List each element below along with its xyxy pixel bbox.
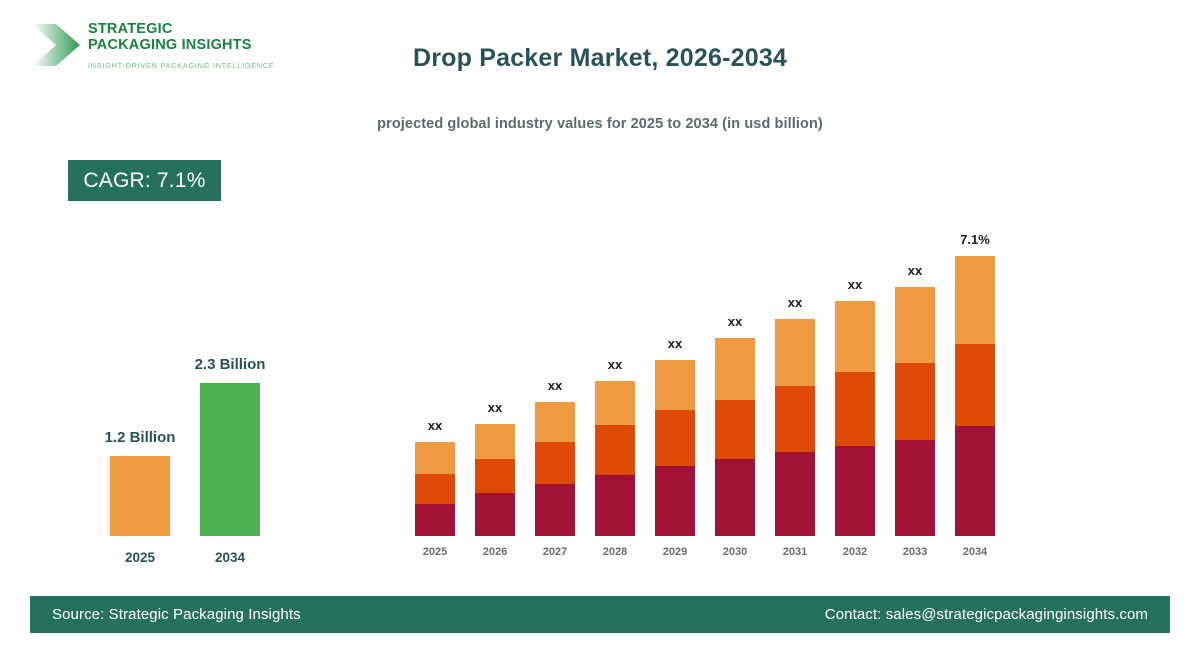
- infographic-page: STRATEGIC PACKAGING INSIGHTS INSIGHT-DRI…: [0, 0, 1200, 650]
- bar-segment-segment-middle-2032: [835, 372, 875, 446]
- bar-group-2028: xx2028: [595, 200, 635, 560]
- stacked-bar-2031: [775, 319, 815, 536]
- bar-segment-segment-bottom-2027: [535, 484, 575, 536]
- bar-segment-segment-middle-2033: [895, 363, 935, 440]
- bar-segment-segment-top-2033: [895, 287, 935, 363]
- endpoint-comparison-chart: 1.2 Billion20252.3 Billion2034: [55, 300, 285, 570]
- brand-logo-line1: STRATEGIC: [88, 22, 275, 38]
- bar-segment-segment-top-2031: [775, 319, 815, 386]
- bar-year-label-2034: 2034: [933, 546, 1017, 558]
- comparison-value-label-2025: 1.2 Billion: [75, 429, 205, 446]
- bar-segment-segment-bottom-2025: [415, 504, 455, 536]
- comparison-year-label-2034: 2034: [165, 550, 295, 565]
- bar-segment-segment-middle-2031: [775, 386, 815, 452]
- bar-segment-segment-middle-2025: [415, 474, 455, 504]
- bar-group-2027: xx2027: [535, 200, 575, 560]
- bar-segment-segment-top-2030: [715, 338, 755, 400]
- bar-segment-segment-bottom-2026: [475, 493, 515, 536]
- page-title: Drop Packer Market, 2026-2034: [0, 44, 1200, 73]
- footer-source: Source: Strategic Packaging Insights: [52, 606, 301, 623]
- bar-segment-segment-bottom-2033: [895, 440, 935, 536]
- bar-segment-segment-bottom-2032: [835, 446, 875, 536]
- cagr-badge-label: CAGR: 7.1%: [83, 169, 205, 193]
- bar-group-2030: xx2030: [715, 200, 755, 560]
- bar-segment-segment-bottom-2029: [655, 466, 695, 536]
- bar-segment-segment-top-2025: [415, 442, 455, 474]
- bar-segment-segment-top-2034: [955, 256, 995, 344]
- bar-segment-segment-middle-2034: [955, 344, 995, 426]
- bar-value-label-2026: xx: [453, 400, 537, 415]
- stacked-forecast-chart: xx2025xx2026xx2027xx2028xx2029xx2030xx20…: [405, 200, 1015, 560]
- bar-segment-segment-middle-2027: [535, 442, 575, 484]
- stacked-bar-2030: [715, 338, 755, 536]
- bar-segment-segment-top-2032: [835, 301, 875, 372]
- comparison-value-label-2034: 2.3 Billion: [165, 356, 295, 373]
- footer-contact: Contact: sales@strategicpackaginginsight…: [825, 606, 1148, 623]
- bar-value-label-2031: xx: [753, 295, 837, 310]
- bar-value-label-2025: xx: [393, 418, 477, 433]
- bar-segment-segment-bottom-2031: [775, 452, 815, 536]
- bar-segment-segment-top-2027: [535, 402, 575, 442]
- bar-segment-segment-bottom-2028: [595, 475, 635, 536]
- stacked-bar-2026: [475, 424, 515, 536]
- cagr-badge: CAGR: 7.1%: [68, 160, 221, 201]
- bar-group-2031: xx2031: [775, 200, 815, 560]
- bar-segment-segment-middle-2028: [595, 425, 635, 475]
- bar-segment-segment-top-2028: [595, 381, 635, 425]
- bar-group-2025: xx2025: [415, 200, 455, 560]
- stacked-bar-2027: [535, 402, 575, 536]
- bar-segment-segment-middle-2026: [475, 459, 515, 493]
- bar-value-label-2033: xx: [873, 263, 957, 278]
- bar-group-2034: 7.1%2034: [955, 200, 995, 560]
- comparison-bar-2025: [110, 456, 170, 536]
- bar-value-label-2027: xx: [513, 378, 597, 393]
- footer-bar: Source: Strategic Packaging Insights Con…: [30, 596, 1170, 633]
- bar-value-label-2034: 7.1%: [933, 232, 1017, 247]
- page-subtitle: projected global industry values for 202…: [0, 116, 1200, 132]
- stacked-bar-2032: [835, 301, 875, 536]
- bar-segment-segment-top-2026: [475, 424, 515, 459]
- bar-value-label-2032: xx: [813, 277, 897, 292]
- bar-group-2032: xx2032: [835, 200, 875, 560]
- bar-segment-segment-top-2029: [655, 360, 695, 410]
- bar-segment-segment-middle-2030: [715, 400, 755, 459]
- stacked-bar-2025: [415, 442, 455, 536]
- bar-segment-segment-bottom-2030: [715, 459, 755, 536]
- stacked-bar-2028: [595, 381, 635, 536]
- bar-segment-segment-bottom-2034: [955, 426, 995, 536]
- bar-value-label-2028: xx: [573, 357, 657, 372]
- bar-group-2029: xx2029: [655, 200, 695, 560]
- stacked-bar-2034: [955, 256, 995, 536]
- bar-value-label-2029: xx: [633, 336, 717, 351]
- bar-group-2026: xx2026: [475, 200, 515, 560]
- comparison-bar-2034: [200, 383, 260, 536]
- bar-group-2033: xx2033: [895, 200, 935, 560]
- stacked-bar-2033: [895, 287, 935, 536]
- bar-value-label-2030: xx: [693, 314, 777, 329]
- bar-segment-segment-middle-2029: [655, 410, 695, 466]
- stacked-bar-2029: [655, 360, 695, 536]
